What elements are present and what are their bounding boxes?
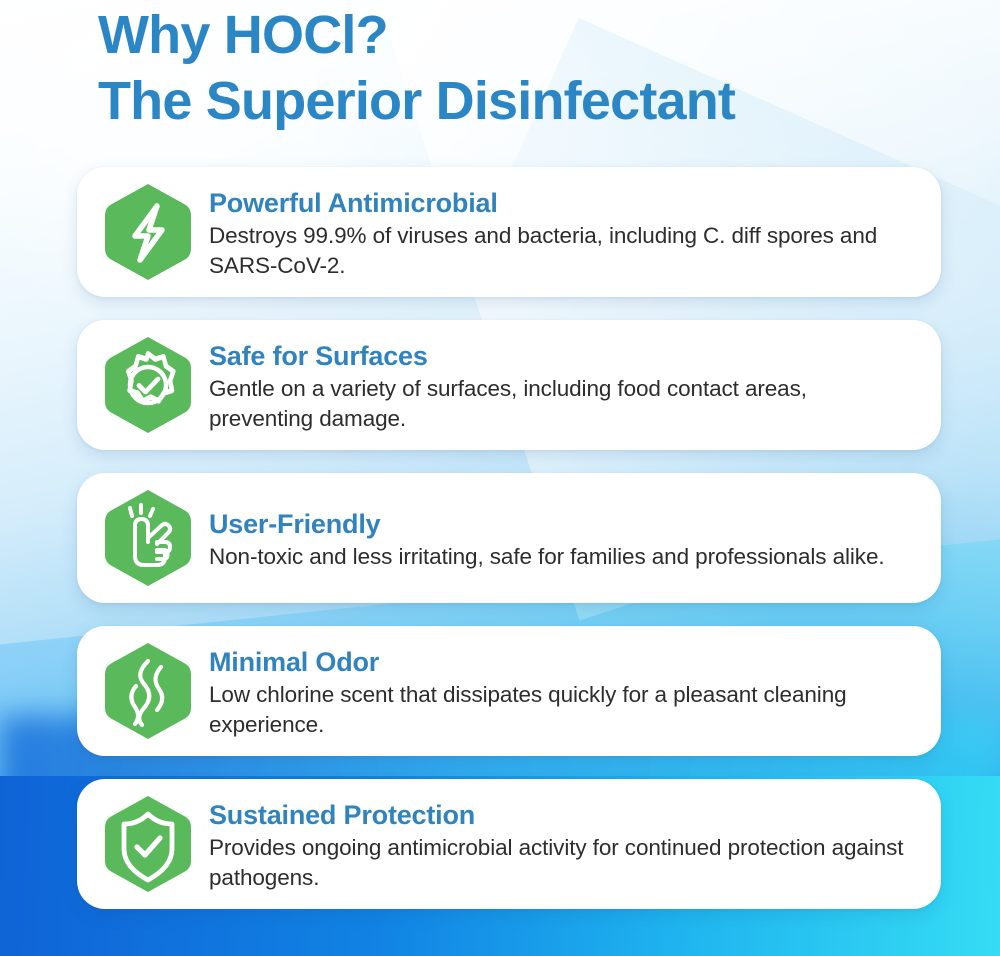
page-title-line-1: Why HOCl? bbox=[98, 2, 918, 68]
benefit-card-heading: User-Friendly bbox=[209, 507, 917, 541]
benefit-card-text: Powerful Antimicrobial Destroys 99.9% of… bbox=[209, 184, 917, 281]
benefit-card-text: Sustained Protection Provides ongoing an… bbox=[209, 796, 917, 893]
infographic-page: Why HOCl? The Superior Disinfectant Powe… bbox=[0, 0, 1000, 956]
benefit-card-list: Powerful Antimicrobial Destroys 99.9% of… bbox=[77, 167, 941, 909]
benefit-card-minimal-odor[interactable]: Minimal Odor Low chlorine scent that dis… bbox=[77, 626, 941, 756]
benefit-card-safe-for-surfaces[interactable]: Safe for Surfaces Gentle on a variety of… bbox=[77, 320, 941, 450]
page-title-line-2: The Superior Disinfectant bbox=[98, 68, 918, 134]
tapping-hand-icon bbox=[99, 486, 197, 590]
badge-check-icon bbox=[99, 333, 197, 437]
page-title: Why HOCl? The Superior Disinfectant bbox=[98, 2, 918, 134]
benefit-card-heading: Powerful Antimicrobial bbox=[209, 186, 917, 220]
lightning-bolt-icon bbox=[99, 180, 197, 284]
benefit-card-text: Safe for Surfaces Gentle on a variety of… bbox=[209, 337, 917, 434]
benefit-card-sustained-protection[interactable]: Sustained Protection Provides ongoing an… bbox=[77, 779, 941, 909]
benefit-card-text: Minimal Odor Low chlorine scent that dis… bbox=[209, 643, 917, 740]
benefit-card-heading: Safe for Surfaces bbox=[209, 339, 917, 373]
benefit-card-description: Destroys 99.9% of viruses and bacteria, … bbox=[209, 221, 909, 281]
benefit-card-description: Non-toxic and less irritating, safe for … bbox=[209, 542, 909, 572]
benefit-card-user-friendly[interactable]: User-Friendly Non-toxic and less irritat… bbox=[77, 473, 941, 603]
benefit-card-text: User-Friendly Non-toxic and less irritat… bbox=[209, 505, 917, 572]
scent-waves-icon bbox=[99, 639, 197, 743]
benefit-card-powerful-antimicrobial[interactable]: Powerful Antimicrobial Destroys 99.9% of… bbox=[77, 167, 941, 297]
benefit-card-heading: Minimal Odor bbox=[209, 645, 917, 679]
benefit-card-heading: Sustained Protection bbox=[209, 798, 917, 832]
benefit-card-description: Gentle on a variety of surfaces, includi… bbox=[209, 374, 909, 434]
benefit-card-description: Provides ongoing antimicrobial activity … bbox=[209, 833, 909, 893]
shield-check-icon bbox=[99, 792, 197, 896]
benefit-card-description: Low chlorine scent that dissipates quick… bbox=[209, 680, 909, 740]
